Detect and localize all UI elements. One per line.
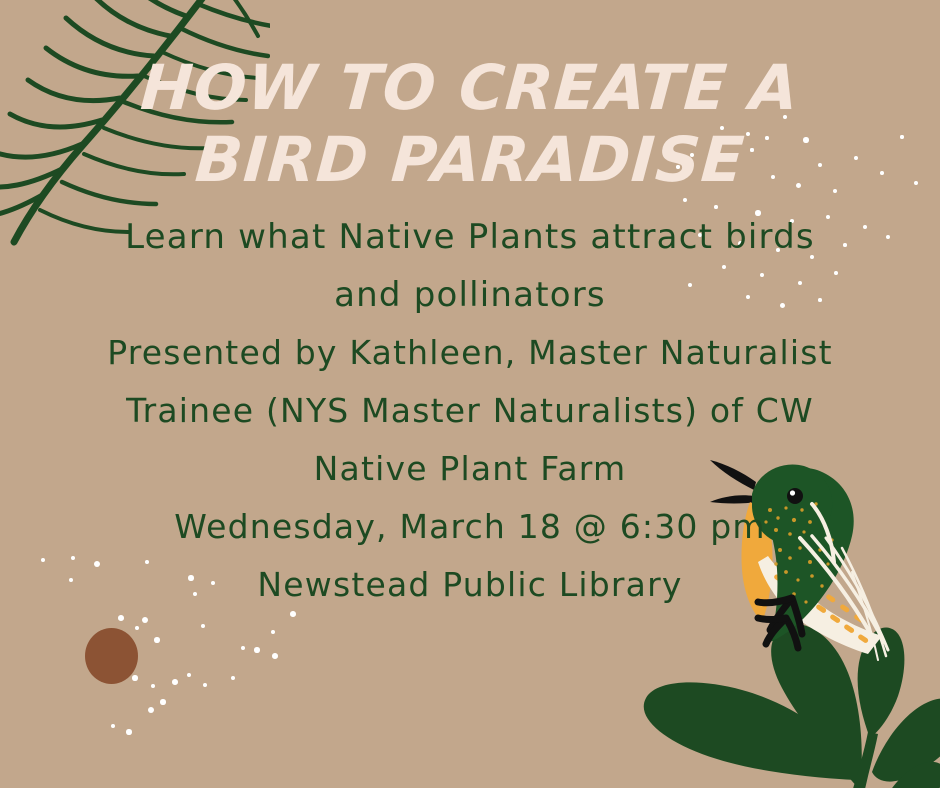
flyer-text-content: How to Create a Bird Paradise Learn what… [0, 0, 940, 788]
body-line-organization: Trainee (NYS Master Naturalists) of CW [0, 382, 940, 440]
flyer-body: Learn what Native Plants attract birds a… [0, 208, 940, 614]
body-line-1: Learn what Native Plants attract birds [0, 208, 940, 266]
body-line-presenter: Presented by Kathleen, Master Naturalist [0, 324, 940, 382]
body-line-datetime: Wednesday, March 18 @ 6:30 pm [0, 498, 940, 556]
body-line-venue: Newstead Public Library [0, 556, 940, 614]
body-line-2: and pollinators [0, 266, 940, 324]
title-line-1: How to Create a [0, 52, 940, 124]
page-title: How to Create a Bird Paradise [0, 52, 940, 196]
event-flyer: How to Create a Bird Paradise Learn what… [0, 0, 940, 788]
title-line-2: Bird Paradise [0, 124, 940, 196]
body-line-farm: Native Plant Farm [0, 440, 940, 498]
